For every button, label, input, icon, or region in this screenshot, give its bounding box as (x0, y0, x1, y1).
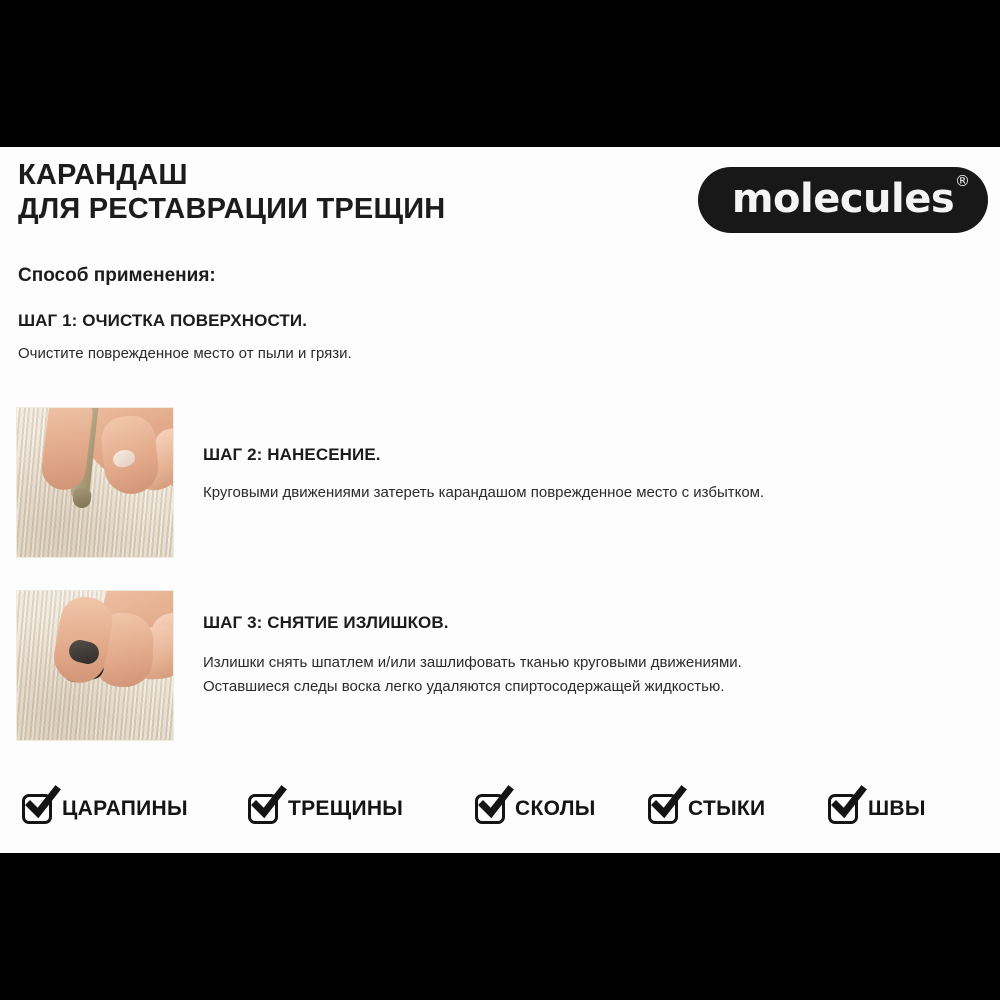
checkbox-checked-icon[interactable] (828, 794, 858, 824)
step-3-body-line-1: Излишки снять шпатлем и/или зашлифовать … (203, 651, 742, 675)
letterbox-bar-bottom (0, 853, 1000, 1000)
content-sheet: КАРАНДАШ ДЛЯ РЕСТАВРАЦИИ ТРЕЩИН molecule… (0, 147, 1000, 853)
page-title: КАРАНДАШ ДЛЯ РЕСТАВРАЦИИ ТРЕЩИН (18, 158, 638, 226)
feature-list: ЦАРАПИНЫ ТРЕЩИНЫ СКОЛЫ (0, 787, 1000, 847)
checkbox-checked-icon[interactable] (648, 794, 678, 824)
feature-label: ЦАРАПИНЫ (62, 797, 188, 821)
step-3-body: Излишки снять шпатлем и/или зашлифовать … (203, 651, 742, 699)
brand-logo: molecules ® (698, 167, 988, 233)
step-3-heading: ШАГ 3: СНЯТИЕ ИЗЛИШКОВ. (203, 613, 449, 633)
checkbox-checked-icon[interactable] (475, 794, 505, 824)
brand-name: molecules (698, 176, 988, 222)
feature-item-scratches[interactable]: ЦАРАПИНЫ (22, 787, 188, 831)
feature-item-joints[interactable]: СТЫКИ (648, 787, 765, 831)
feature-label: ТРЕЩИНЫ (288, 797, 403, 821)
letterbox-bar-top (0, 0, 1000, 147)
step-3-photo (16, 590, 174, 741)
feature-label: ШВЫ (868, 797, 926, 821)
step-1-heading: ШАГ 1: ОЧИСТКА ПОВЕРХНОСТИ. (18, 311, 307, 331)
product-instruction-page: КАРАНДАШ ДЛЯ РЕСТАВРАЦИИ ТРЕЩИН molecule… (0, 0, 1000, 1000)
step-2-photo (16, 407, 174, 558)
feature-label: СКОЛЫ (515, 797, 596, 821)
step-2-heading: ШАГ 2: НАНЕСЕНИЕ. (203, 445, 381, 465)
feature-item-seams[interactable]: ШВЫ (828, 787, 926, 831)
checkbox-checked-icon[interactable] (22, 794, 52, 824)
feature-item-cracks[interactable]: ТРЕЩИНЫ (248, 787, 403, 831)
registered-trademark-icon: ® (955, 174, 970, 189)
instructions-heading: Способ применения: (18, 265, 216, 287)
page-title-line-1: КАРАНДАШ (18, 158, 638, 192)
step-1-body: Очистите поврежденное место от пыли и гр… (18, 345, 352, 362)
feature-item-chips[interactable]: СКОЛЫ (475, 787, 596, 831)
checkbox-checked-icon[interactable] (248, 794, 278, 824)
step-2-body: Круговыми движениями затереть карандашом… (203, 481, 764, 505)
feature-label: СТЫКИ (688, 797, 765, 821)
step-3-body-line-2: Оставшиеся следы воска легко удаляются с… (203, 675, 742, 699)
page-title-line-2: ДЛЯ РЕСТАВРАЦИИ ТРЕЩИН (18, 192, 638, 226)
